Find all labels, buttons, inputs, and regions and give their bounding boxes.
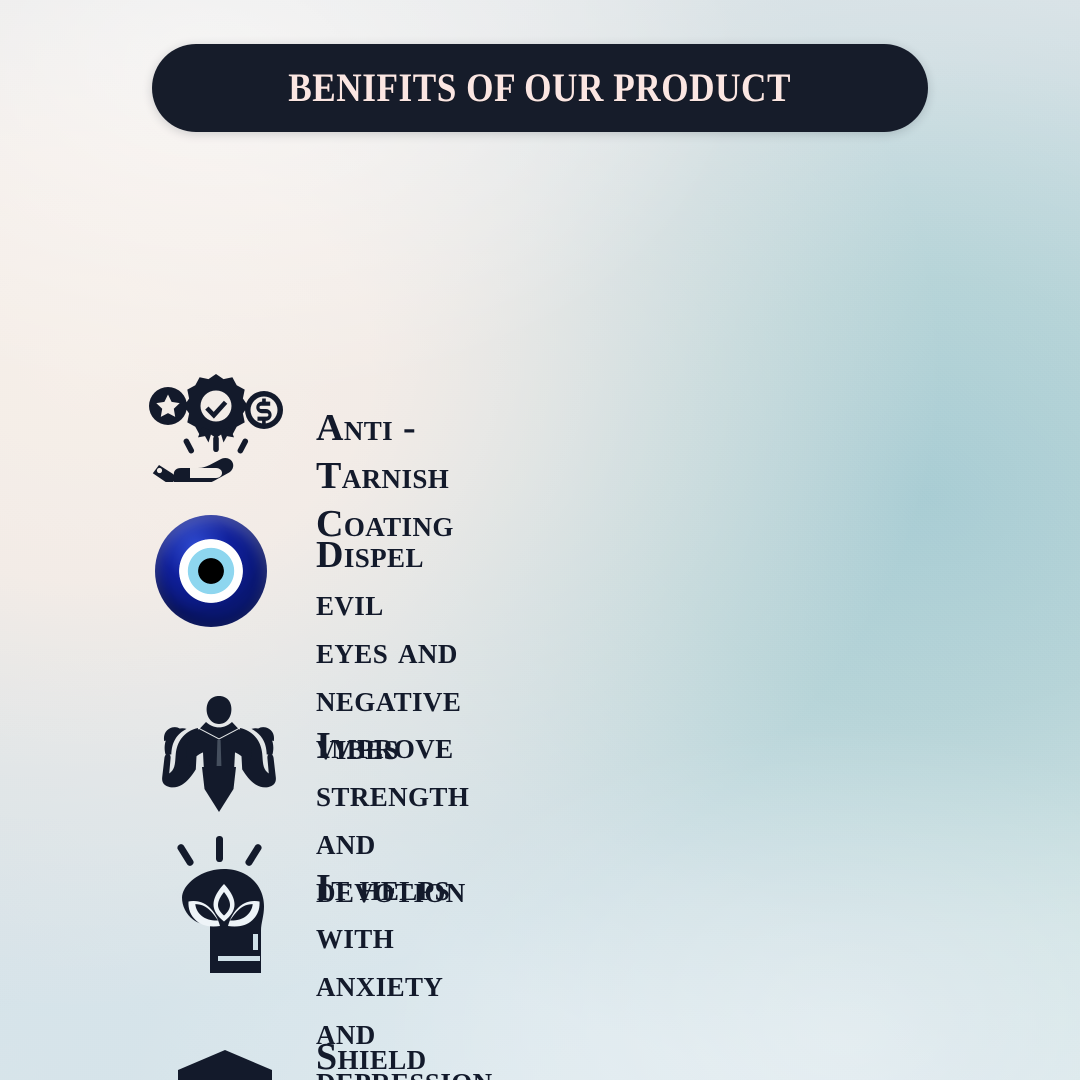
mindful-head-lotus-icon [162, 836, 278, 988]
header-pill: BENIFITS OF OUR PRODUCT [152, 44, 928, 132]
page-title: BENIFITS OF OUR PRODUCT [289, 68, 792, 108]
evil-eye-disc [155, 515, 267, 627]
shield-check-icon [172, 1048, 278, 1080]
benefit-text: Shield the wearer from negative influenc… [316, 1033, 494, 1080]
evil-eye-icon [155, 515, 267, 627]
bodybuilder-flex-icon [158, 694, 280, 812]
infographic-canvas: BENIFITS OF OUR PRODUCT [0, 0, 1080, 1080]
benefit-text: Anti - Tarnish Coating [316, 404, 454, 548]
hand-holding-rewards-icon [146, 372, 286, 482]
